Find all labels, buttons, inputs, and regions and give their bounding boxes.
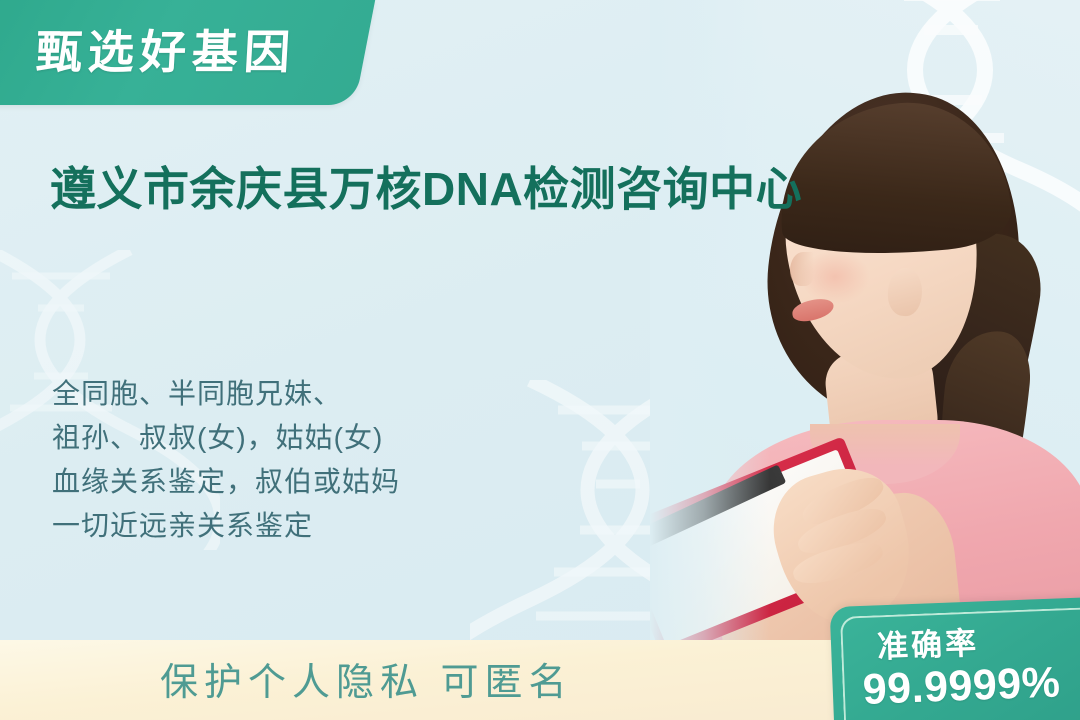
photo-edge-fade — [650, 0, 770, 720]
description-line: 血缘关系鉴定，叔伯或姑妈 — [52, 460, 572, 504]
page-title: 遵义市余庆县万核DNA检测咨询中心 — [50, 158, 840, 220]
accuracy-badge: 准确率 99.9999% — [830, 597, 1080, 720]
nose — [790, 252, 814, 286]
badge-label: 准确率 — [876, 617, 980, 666]
description-line: 一切近远亲关系鉴定 — [52, 504, 572, 548]
brand-logo-text: 甄选好基因 — [26, 22, 298, 82]
privacy-text: 保护个人隐私 可匿名 — [160, 651, 573, 706]
promo-poster: 甄选好基因 遵义市余庆县万核DNA检测咨询中心 全同胞、半同胞兄妹、 祖孙、叔叔… — [0, 0, 1080, 720]
badge-value: 99.9999% — [862, 658, 1061, 715]
description-line: 祖孙、叔叔(女)，姑姑(女) — [52, 416, 572, 460]
service-description: 全同胞、半同胞兄妹、 祖孙、叔叔(女)，姑姑(女) 血缘关系鉴定，叔伯或姑妈 一… — [52, 372, 572, 548]
description-line: 全同胞、半同胞兄妹、 — [52, 372, 572, 416]
